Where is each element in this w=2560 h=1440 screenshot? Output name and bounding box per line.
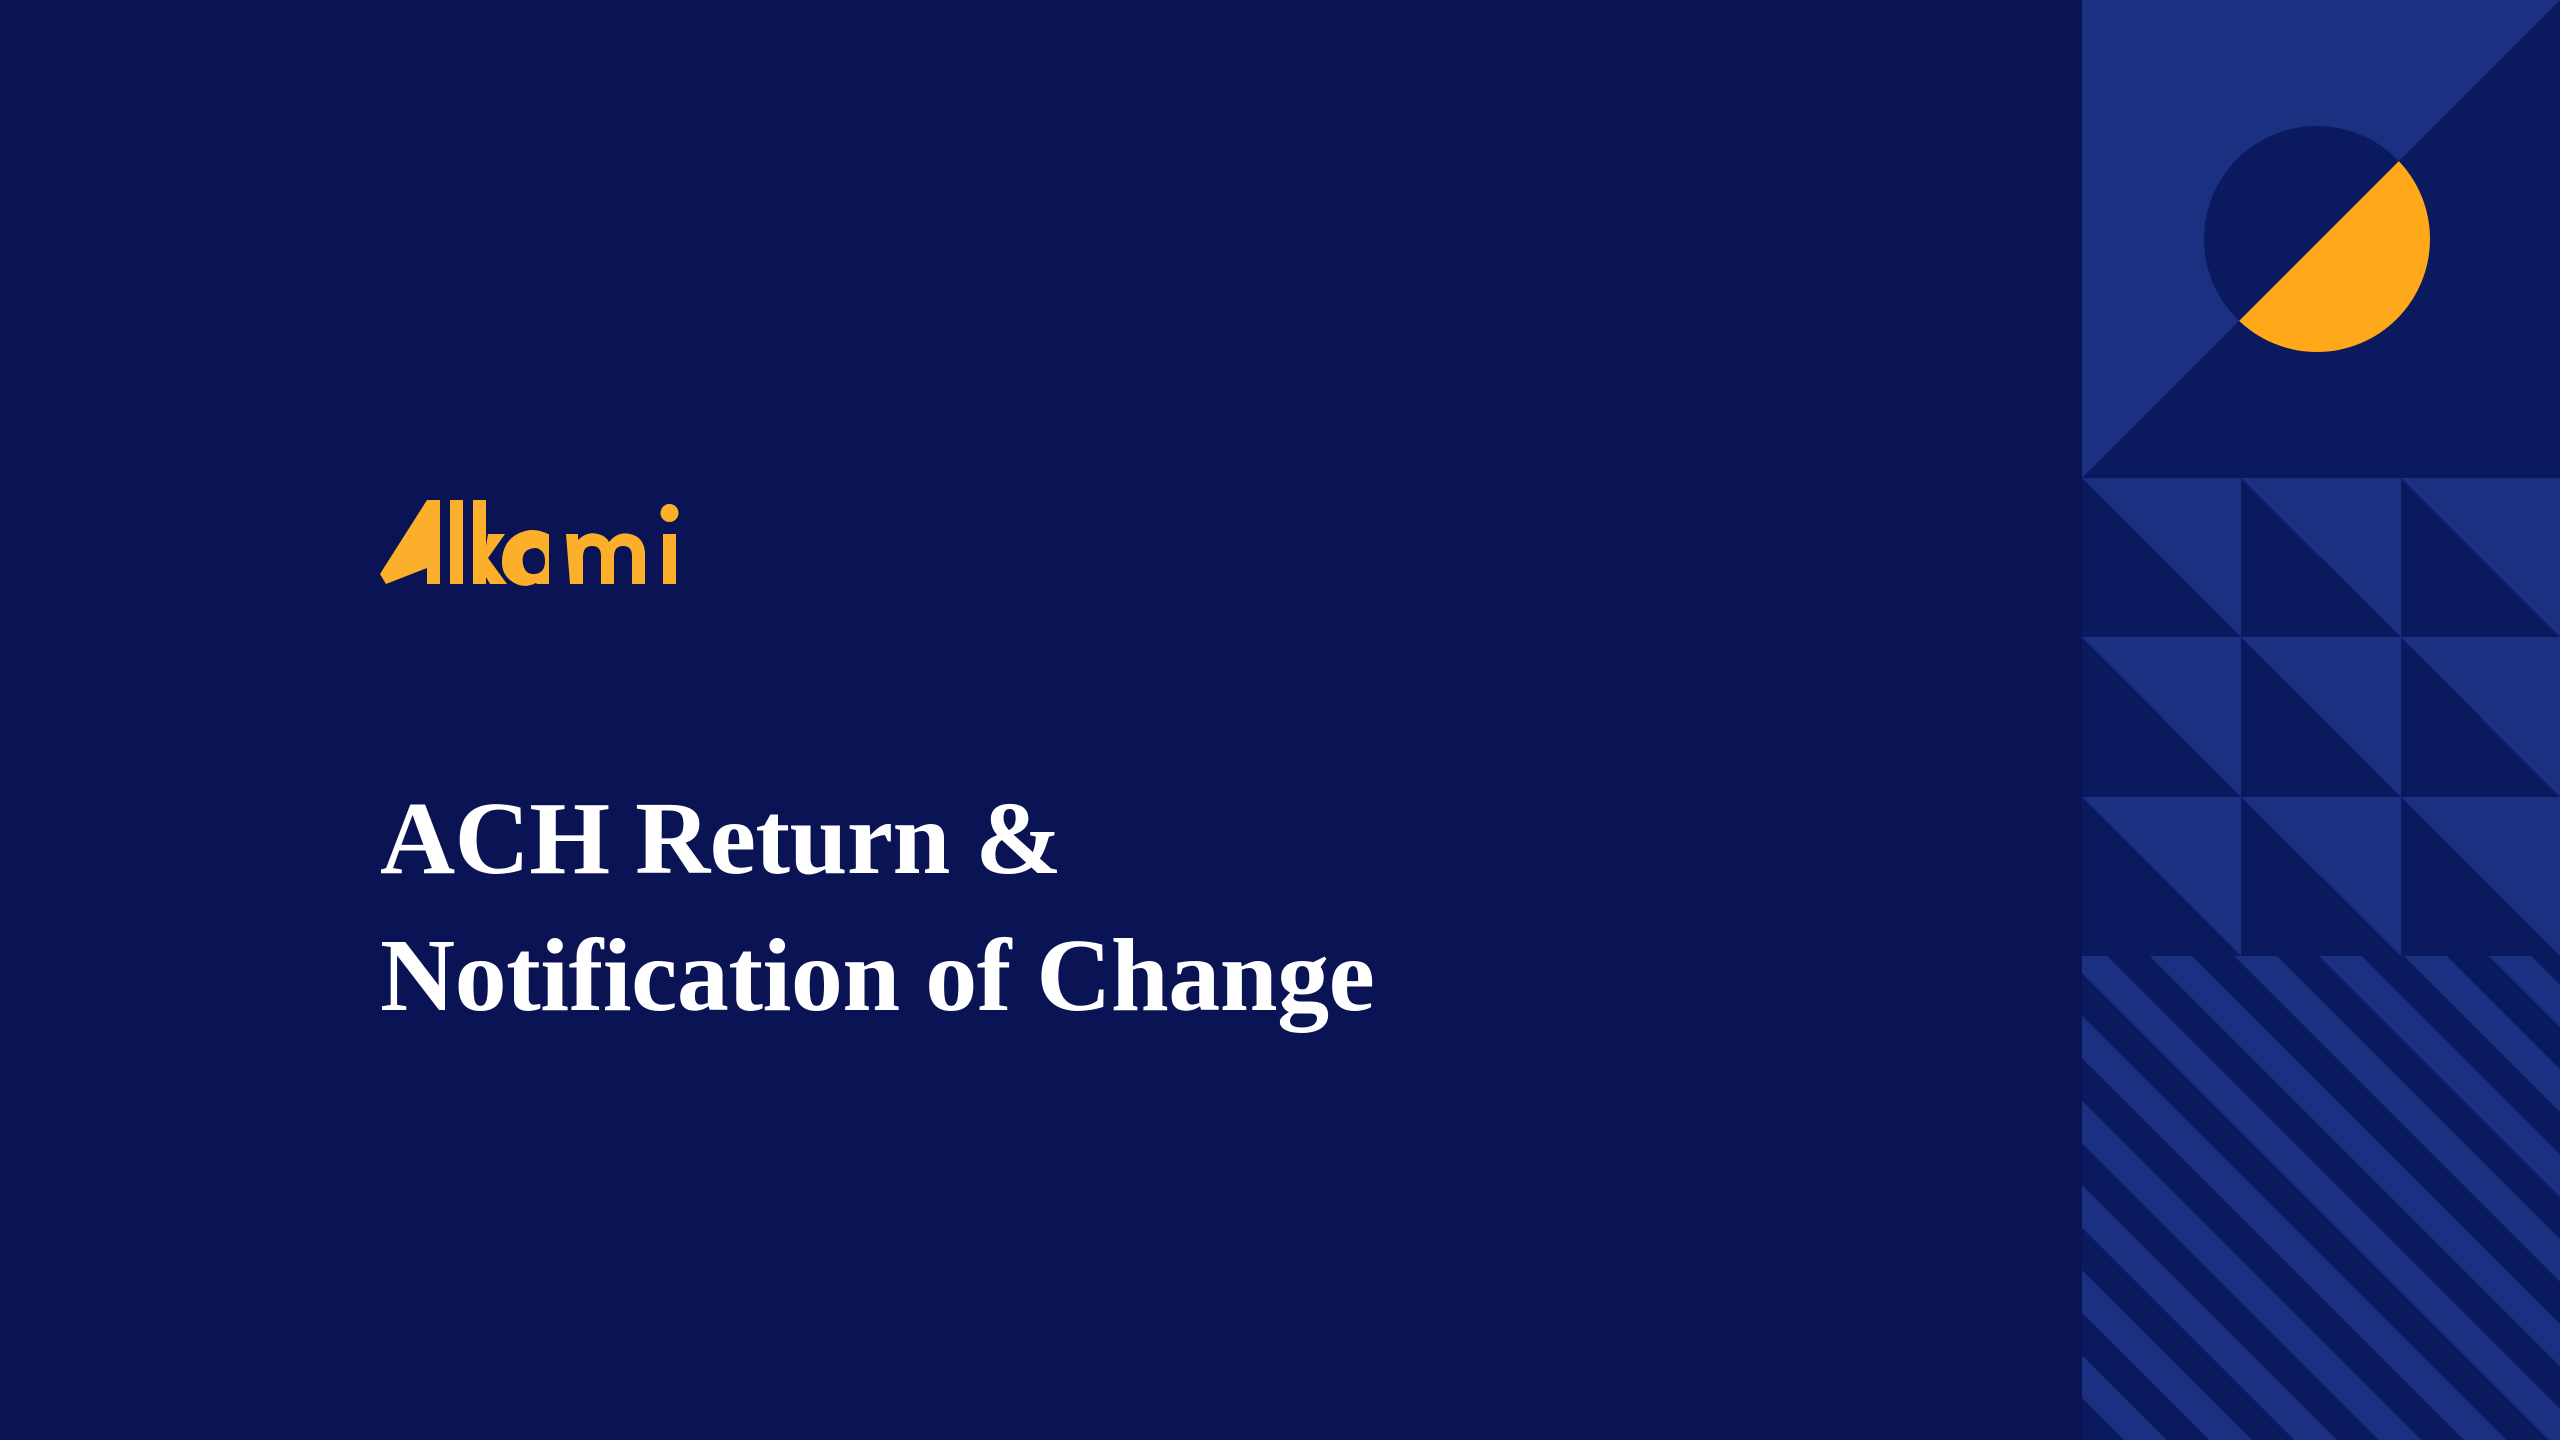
triangle-tile	[2401, 478, 2560, 637]
triangle-tile	[2401, 797, 2560, 956]
triangle-tile	[2082, 797, 2241, 956]
diagonal-stripes-block	[2082, 956, 2560, 1440]
triangle-tile	[2241, 637, 2400, 796]
triangle-tile	[2241, 797, 2400, 956]
title-slide: Alkami	[0, 0, 2560, 1440]
triangle-tile	[2082, 637, 2241, 796]
triangle-tile	[2241, 478, 2400, 637]
triangle-tile	[2082, 478, 2241, 637]
hero-circle-block	[2082, 0, 2560, 478]
page-title-line-2: Notification of Change	[380, 907, 1840, 1044]
alkami-logo: Alkami	[380, 498, 730, 608]
triangle-tile	[2401, 637, 2560, 796]
geometric-pattern-panel	[2082, 0, 2560, 1440]
diagonal-split-circle-icon	[2082, 0, 2560, 478]
page-title: ACH Return & Notification of Change	[380, 770, 1840, 1045]
alkami-logo-icon: Alkami	[380, 498, 730, 608]
page-title-line-1: ACH Return &	[380, 770, 1840, 907]
slide-content: Alkami	[380, 0, 1880, 1440]
triangle-grid-block	[2082, 478, 2560, 956]
